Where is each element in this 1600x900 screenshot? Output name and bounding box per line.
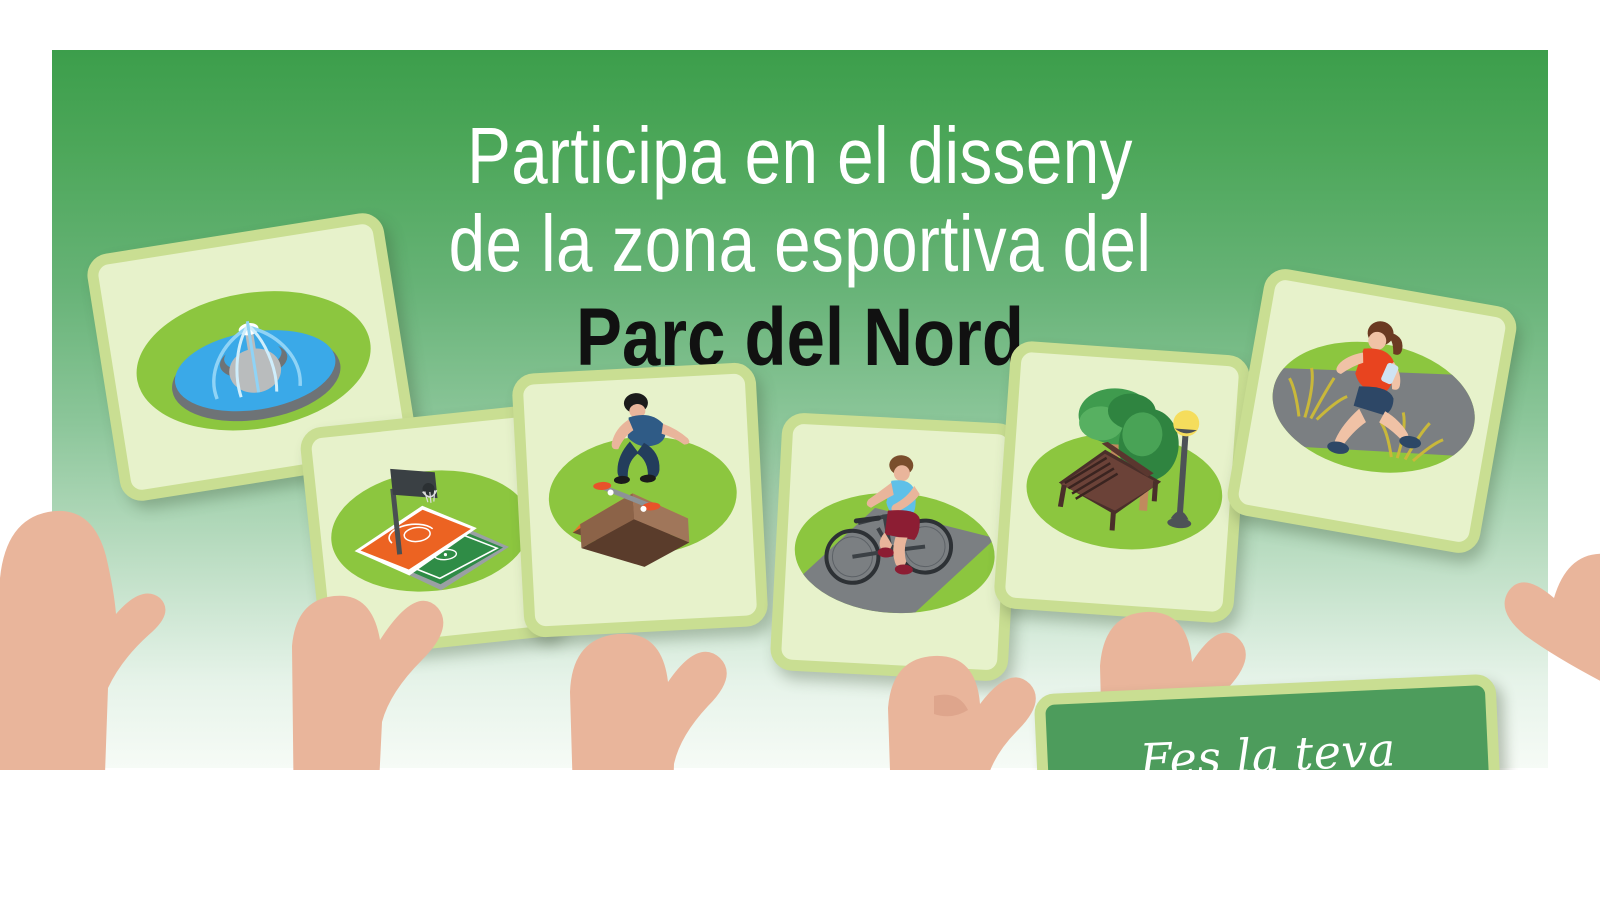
footer-logo-bar: Ajuntament de Sabadell Hi col·labora: Di… xyxy=(0,770,1600,900)
hand-left-1 xyxy=(0,428,222,820)
hand-shape xyxy=(0,428,222,820)
headline-line-1: Participa en el disseny xyxy=(187,112,1414,200)
banner-background: Participa en el disseny de la zona espor… xyxy=(52,50,1548,768)
poster-canvas: Participa en el disseny de la zona espor… xyxy=(0,0,1600,900)
